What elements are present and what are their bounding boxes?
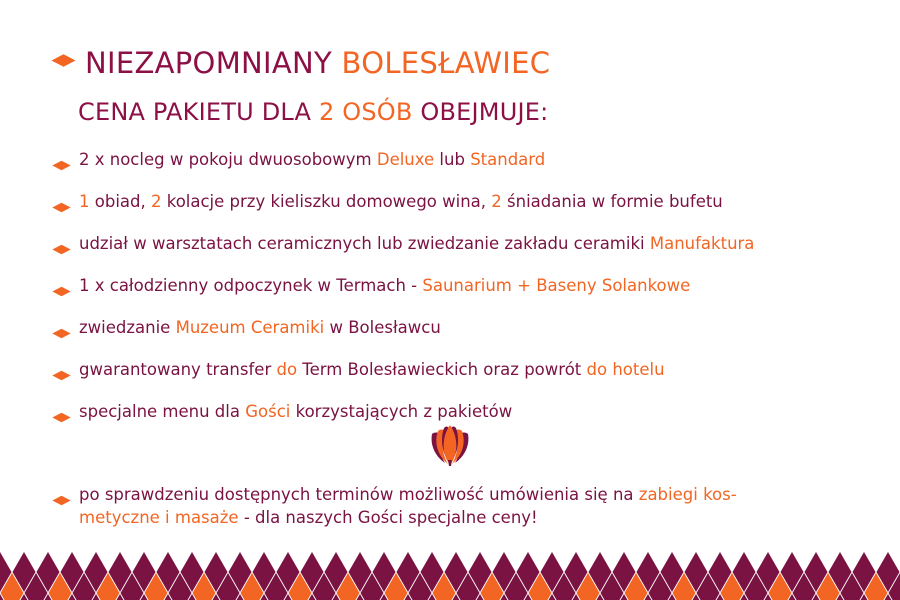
bullet-text-segment: Gości — [245, 402, 290, 421]
bullet-item-text: 1 obiad, 2 kolacje przy kieliszku domowe… — [79, 190, 723, 213]
bullet-text-segment: specjalne menu dla — [79, 402, 245, 421]
bullet-marker-wrap — [55, 316, 79, 344]
bullet-item-text: specjalne menu dla Gości korzystających … — [79, 400, 512, 423]
bullet-text-segment: Muzeum Ceramiki — [176, 318, 325, 337]
diamond-bullet-icon — [52, 413, 70, 423]
harlequin-pattern-band — [0, 552, 900, 600]
bullet-text-segment: lub — [434, 150, 470, 169]
bullet-marker-wrap — [55, 358, 79, 386]
bullet-text-segment: 1 x całodzienny odpoczynek w Termach - — [79, 276, 422, 295]
bullet-text-segment: śniadania w formie bufetu — [502, 192, 723, 211]
bullet-text-segment: zabiegi kos- — [639, 485, 737, 504]
bullet-text-segment: kolacje przy kieliszku domowego wina, — [161, 192, 491, 211]
diamond-bullet-icon — [52, 245, 70, 255]
bullet-marker-wrap — [55, 483, 79, 511]
diamond-bullet-icon — [52, 371, 70, 381]
page-title-part1: NIEZAPOMNIANY — [85, 46, 342, 80]
bullet-text-segment: Saunarium + Baseny Solankowe — [422, 276, 690, 295]
diamond-bullet-icon — [52, 496, 70, 506]
bullet-text-segment: Term Bolesławieckich oraz powrót — [297, 360, 586, 379]
diamond-bullet-icon — [52, 329, 70, 339]
bullet-marker-wrap — [55, 148, 79, 176]
bullet-item-text: 2 x nocleg w pokoju dwuosobowym Deluxe l… — [79, 148, 545, 171]
flame-tulip-logo-icon — [429, 423, 471, 467]
bullet-text-segment: po sprawdzeniu dostępnych terminów możli… — [79, 485, 639, 504]
bullet-text-segment: udział w warsztatach ceramicznych lub zw… — [79, 234, 650, 253]
diamond-bullet-icon — [52, 161, 70, 171]
item-termy: 1 x całodzienny odpoczynek w Termach - S… — [55, 274, 855, 302]
item-transfer: gwarantowany transfer do Term Bolesławie… — [55, 358, 855, 386]
bullet-text-segment: metyczne i masaże — [79, 508, 239, 527]
diamond-bullet-icon — [52, 287, 70, 297]
bullet-text-segment: Standard — [470, 150, 545, 169]
harlequin-pattern-svg — [0, 552, 900, 600]
bullet-item-text: gwarantowany transfer do Term Bolesławie… — [79, 358, 665, 381]
diamond-bullet-icon — [52, 203, 70, 213]
page-subtitle-text: CENA PAKIETU DLA 2 OSÓB OBEJMUJE: — [78, 98, 548, 126]
bullet-marker-wrap — [55, 274, 79, 302]
package-includes-list: 2 x nocleg w pokoju dwuosobowym Deluxe l… — [55, 148, 855, 442]
bullet-marker-wrap — [55, 232, 79, 260]
diamond-bullet-icon — [51, 54, 75, 67]
item-zabiegi: po sprawdzeniu dostępnych terminów możli… — [55, 483, 845, 529]
bullet-text-segment: 1 — [79, 192, 90, 211]
page-title-part2: BOLESŁAWIEC — [342, 46, 551, 80]
item-nocleg: 2 x nocleg w pokoju dwuosobowym Deluxe l… — [55, 148, 855, 176]
page-title: NIEZAPOMNIANY BOLESŁAWIEC — [55, 46, 550, 80]
item-warsztaty: udział w warsztatach ceramicznych lub zw… — [55, 232, 855, 260]
bullet-text-segment: 2 — [491, 192, 502, 211]
bullet-text-segment: Manufaktura — [650, 234, 755, 253]
page-subtitle-part2: 2 OSÓB — [319, 98, 413, 126]
bullet-text-segment: do hotelu — [587, 360, 665, 379]
bullet-text-segment: w Bolesławcu — [324, 318, 441, 337]
bullet-item-text: po sprawdzeniu dostępnych terminów możli… — [79, 483, 737, 529]
page-subtitle: CENA PAKIETU DLA 2 OSÓB OBEJMUJE: — [78, 98, 548, 126]
bullet-text-segment: - dla naszych Gości specjalne ceny! — [239, 508, 538, 527]
bullet-text-segment: zwiedzanie — [79, 318, 176, 337]
bullet-text-segment: 2 — [151, 192, 162, 211]
page-subtitle-part1: CENA PAKIETU DLA — [78, 98, 319, 126]
page-subtitle-part3: OBEJMUJE: — [413, 98, 549, 126]
bullet-text-segment: Deluxe — [377, 150, 434, 169]
slide-root: NIEZAPOMNIANY BOLESŁAWIEC CENA PAKIETU D… — [0, 0, 900, 600]
bullet-item-text: zwiedzanie Muzeum Ceramiki w Bolesławcu — [79, 316, 441, 339]
item-posilki: 1 obiad, 2 kolacje przy kieliszku domowe… — [55, 190, 855, 218]
bullet-text-segment: gwarantowany transfer — [79, 360, 276, 379]
bullet-text-segment: do — [276, 360, 297, 379]
closing-note: po sprawdzeniu dostępnych terminów możli… — [55, 483, 845, 529]
page-title-text: NIEZAPOMNIANY BOLESŁAWIEC — [85, 46, 550, 80]
bullet-text-segment: obiad, — [90, 192, 151, 211]
bullet-item-text: udział w warsztatach ceramicznych lub zw… — [79, 232, 754, 255]
bullet-marker-wrap — [55, 190, 79, 218]
bullet-text-segment: 2 x nocleg w pokoju dwuosobowym — [79, 150, 377, 169]
item-muzeum: zwiedzanie Muzeum Ceramiki w Bolesławcu — [55, 316, 855, 344]
bullet-item-text: 1 x całodzienny odpoczynek w Termach - S… — [79, 274, 690, 297]
bullet-text-segment: korzystających z pakietów — [290, 402, 512, 421]
logo-container — [0, 423, 900, 467]
